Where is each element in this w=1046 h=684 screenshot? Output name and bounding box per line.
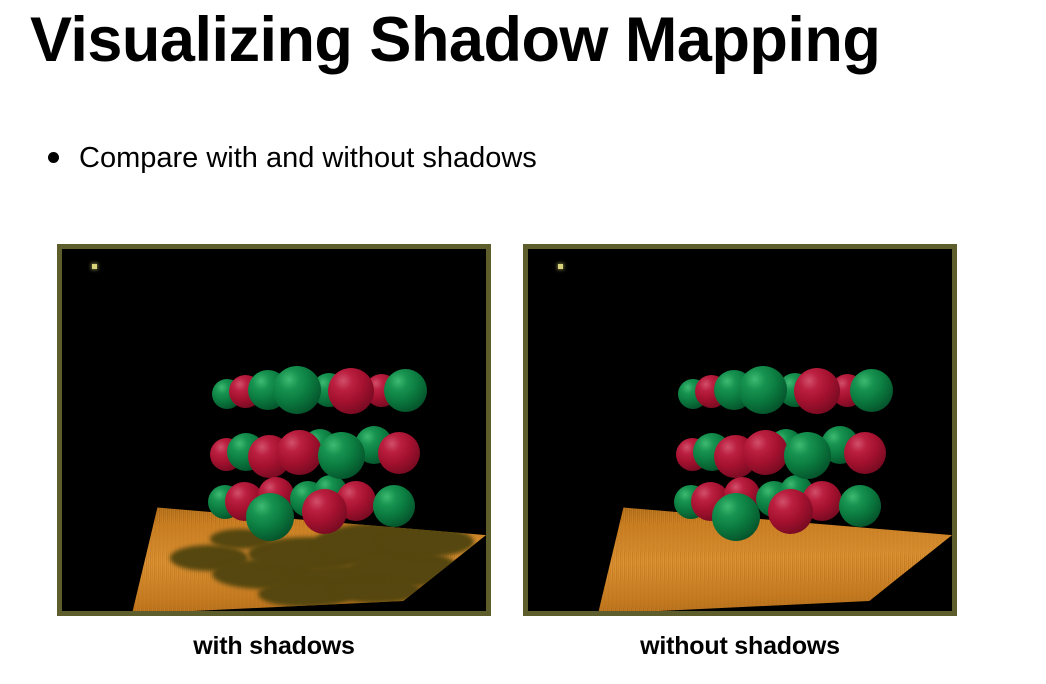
sphere-green <box>318 432 365 479</box>
sphere-green <box>273 366 321 414</box>
sphere-green <box>373 485 415 527</box>
sphere-red <box>378 432 420 474</box>
sphere-green <box>739 366 787 414</box>
bullet-list: Compare with and without shadows <box>48 140 998 176</box>
render-canvas-without-shadows <box>528 249 952 611</box>
render-frame-with-shadows <box>57 244 491 616</box>
bullet-disc-icon <box>48 152 59 163</box>
figure-caption-with-shadows: with shadows <box>57 632 491 661</box>
sphere-red <box>302 489 347 534</box>
figure-row: with shadows without shadows <box>0 244 1046 684</box>
sphere-green <box>712 493 760 541</box>
sphere-green <box>850 369 893 412</box>
sphere-green <box>246 493 294 541</box>
sphere-red <box>844 432 886 474</box>
figure-caption-without-shadows: without shadows <box>523 632 957 661</box>
sphere-red <box>277 430 322 475</box>
bullet-item-label: Compare with and without shadows <box>79 140 537 176</box>
sphere-green <box>384 369 427 412</box>
sphere-green <box>839 485 881 527</box>
light-source-icon <box>92 264 97 269</box>
list-item: Compare with and without shadows <box>48 140 998 176</box>
figure-with-shadows: with shadows <box>57 244 491 616</box>
sphere-red <box>794 368 840 414</box>
render-canvas-with-shadows <box>62 249 486 611</box>
sphere-red <box>328 368 374 414</box>
render-frame-without-shadows <box>523 244 957 616</box>
sphere-red <box>768 489 813 534</box>
page-title: Visualizing Shadow Mapping <box>30 6 1026 74</box>
sphere-green <box>784 432 831 479</box>
figure-without-shadows: without shadows <box>523 244 957 616</box>
light-source-icon <box>558 264 563 269</box>
sphere-red <box>743 430 788 475</box>
